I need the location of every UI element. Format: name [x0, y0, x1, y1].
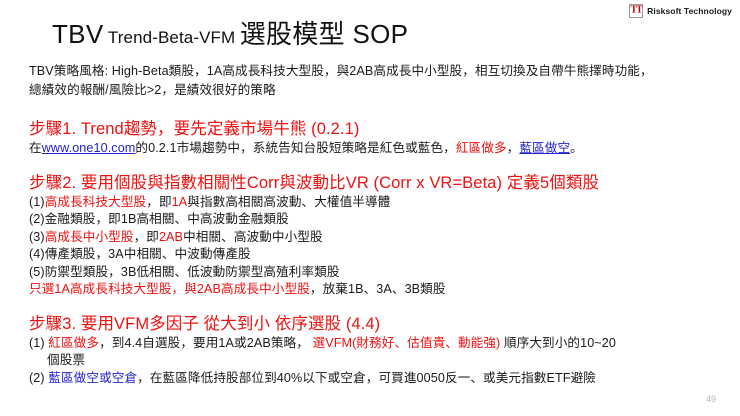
step2-summary: 只選1A高成長科技大型股，與2AB高成長中小型股，放棄1B、3A、3B類股 — [29, 281, 729, 299]
item-rest: ，在藍區降低持股部位到40%以下或空倉，可買進0050反一、或美元指數ETF避險 — [137, 371, 596, 385]
list-item: (2)金融類股，即1B高相關、中高波動金融類股 — [29, 211, 729, 229]
item-blue-a: 藍區做空或空倉 — [48, 371, 137, 385]
item-number: (4) — [29, 247, 45, 261]
intro-paragraph: TBV策略風格: High-Beta類股，1A高成長科技大型股，與2AB高成長中… — [29, 62, 729, 100]
list-item: (4)傳產類股，3A中相關、中波動傳產股 — [29, 246, 729, 264]
item-mid: ，到4.4自選股，要用1A或2AB策略， — [99, 336, 312, 350]
step1-blue-tag: 藍區做空 — [519, 141, 570, 155]
list-item: (3)高成長中小型股，即2AB中相關、高波動中小型股 — [29, 229, 729, 247]
step2-heading: 步驟2. 要用個股與指數相關性Corr與波動比VR (Corr x VR=Bet… — [29, 172, 729, 194]
page-number: 49 — [706, 394, 716, 404]
list-item: (2) 藍區做空或空倉，在藍區降低持股部位到40%以下或空倉，可買進0050反一… — [29, 370, 729, 388]
item-number: (2) — [29, 212, 45, 226]
item-mid: ，即 — [134, 230, 159, 244]
title-subtitle: Trend-Beta-VFM — [108, 28, 235, 47]
step1-body-mid: 的0.2.1市場趨勢中，系統告知台股短策略是紅色或藍色， — [135, 141, 455, 155]
item-mid: 傳產類股，3A中相關、中波動傳產股 — [45, 247, 251, 261]
page-title: TBV Trend-Beta-VFM 選股模型 SOP — [52, 14, 408, 51]
step1-body-pre: 在 — [29, 141, 42, 155]
slide-body: TBV策略風格: High-Beta類股，1A高成長科技大型股，與2AB高成長中… — [29, 62, 729, 387]
item-number: (5) — [29, 265, 45, 279]
step3-item1-wrap: 個股票 — [29, 352, 729, 370]
risksoft-logo-icon: TT — [629, 4, 643, 18]
item-red-b: 2AB — [159, 230, 183, 244]
one10-link[interactable]: www.one10.com — [42, 141, 136, 155]
item-red-a: 紅區做多 — [48, 336, 99, 350]
step1-body: 在www.one10.com的0.2.1市場趨勢中，系統告知台股短策略是紅色或藍… — [29, 140, 729, 158]
step2-summary-black: ，放棄1B、3A、3B類股 — [310, 282, 446, 296]
item-number: (3) — [29, 230, 45, 244]
item-mid: 防禦型類股，3B低相關、低波動防禦型高殖利率類股 — [45, 265, 340, 279]
logo-text: Risksoft Technology — [647, 6, 732, 16]
step1-red-tag: 紅區做多 — [456, 141, 507, 155]
item-rest: 與指數高相關高波動、大權值半導體 — [187, 195, 390, 209]
item-red-b: 選VFM(財務好、估值貴、動能強) — [313, 336, 501, 350]
list-item: (5)防禦型類股，3B低相關、低波動防禦型高殖利率類股 — [29, 264, 729, 282]
item-red-b: 1A — [172, 195, 188, 209]
list-item: (1) 紅區做多，到4.4自選股，要用1A或2AB策略， 選VFM(財務好、估值… — [29, 335, 729, 353]
list-item: (1)高成長科技大型股，即1A與指數高相關高波動、大權值半導體 — [29, 194, 729, 212]
intro-line-2: 總績效的報酬/風險比>2，是績效很好的策略 — [29, 81, 729, 100]
title-main-a: TBV — [52, 19, 103, 49]
item-mid: 金融類股，即1B高相關、中高波動金融類股 — [45, 212, 289, 226]
step3-heading: 步驟3. 要用VFM多因子 從大到小 依序選股 (4.4) — [29, 313, 729, 335]
step2-summary-red: 只選1A高成長科技大型股，與2AB高成長中小型股 — [29, 282, 310, 296]
item-red-a: 高成長科技大型股 — [45, 195, 147, 209]
logo-mark-glyph: TT — [630, 6, 641, 16]
spacer — [29, 100, 729, 118]
item-rest: 中相關、高波動中小型股 — [183, 230, 323, 244]
item-number: (1) — [29, 195, 45, 209]
title-main-b: 選股模型 SOP — [240, 19, 409, 49]
intro-line-1: TBV策略風格: High-Beta類股，1A高成長科技大型股，與2AB高成長中… — [29, 62, 729, 81]
spacer — [29, 299, 729, 313]
spacer — [29, 158, 729, 172]
step1-body-end: 。 — [570, 141, 583, 155]
item-red-a: 高成長中小型股 — [45, 230, 134, 244]
brand-logo: TT Risksoft Technology — [629, 4, 732, 18]
step1-heading: 步驟1. Trend趨勢，要先定義市場牛熊 (0.2.1) — [29, 118, 729, 140]
item-number: (1) — [29, 336, 48, 350]
item-mid: ，即 — [146, 195, 171, 209]
item-rest: 順序大到小的10~20 — [500, 336, 616, 350]
item-number: (2) — [29, 371, 48, 385]
step1-sep: ， — [507, 141, 520, 155]
